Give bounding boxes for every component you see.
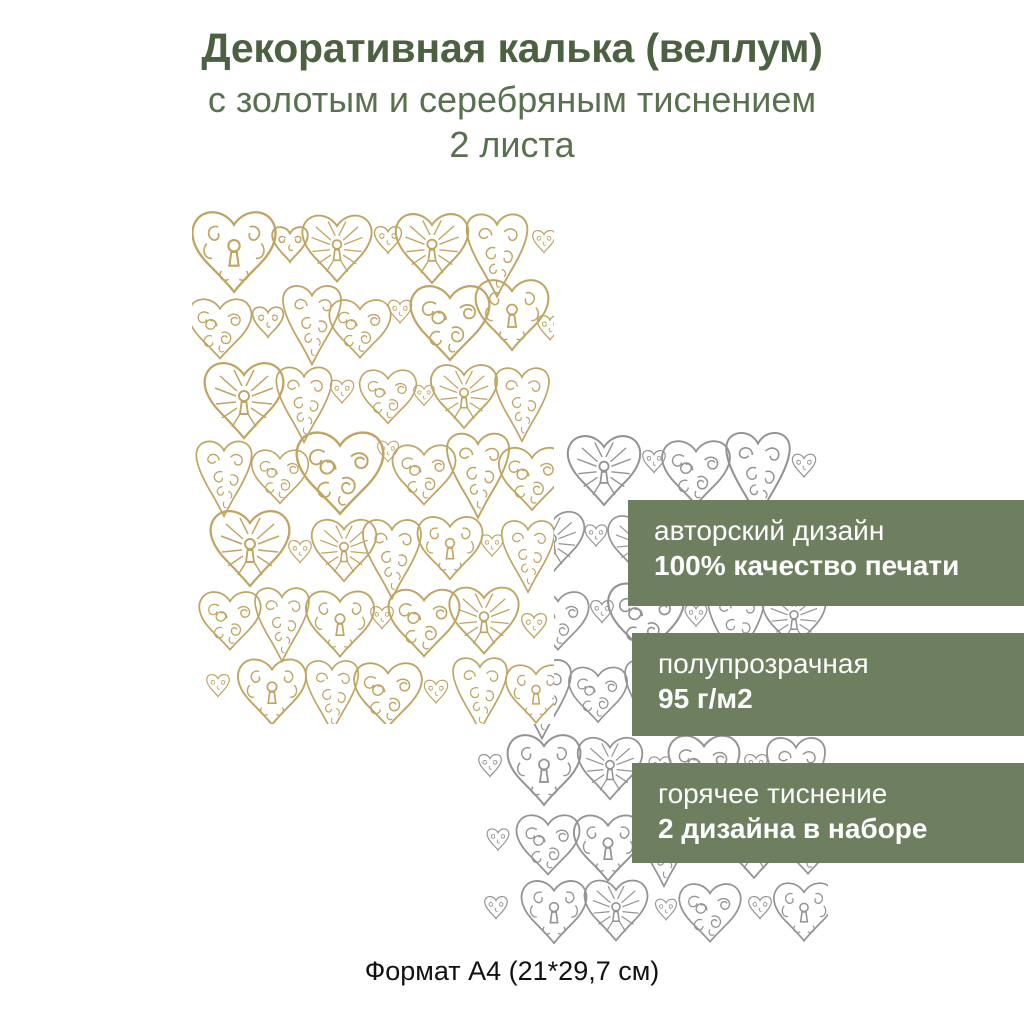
- badge-translucency-line2: 95 г/м2: [658, 681, 1024, 716]
- sheet-count-label: 2 листа: [0, 121, 1024, 165]
- page-title: Декоративная калька (веллум): [0, 0, 1024, 70]
- gold-heart-pattern: [192, 200, 554, 724]
- footer: Формат A4 (21*29,7 см): [0, 955, 1024, 987]
- badge-foiling-line2: 2 дизайна в наборе: [658, 811, 1024, 846]
- badge-author-design-line2: 100% качество печати: [654, 548, 1024, 583]
- badge-foiling: горячее тиснение 2 дизайна в наборе: [632, 763, 1024, 863]
- header: Декоративная калька (веллум) с золотым и…: [0, 0, 1024, 165]
- badge-foiling-line1: горячее тиснение: [658, 776, 1024, 811]
- gold-foil-vellum-sheet: [192, 200, 554, 724]
- format-label: Формат A4 (21*29,7 см): [0, 955, 1024, 987]
- page-subtitle: с золотым и серебряным тиснением: [0, 70, 1024, 120]
- badge-author-design: авторский дизайн 100% качество печати: [628, 500, 1024, 606]
- badge-translucency-line1: полупрозрачная: [658, 646, 1024, 681]
- badge-translucency: полупрозрачная 95 г/м2: [632, 633, 1024, 736]
- badge-author-design-line1: авторский дизайн: [654, 513, 1024, 548]
- product-listing-image: Декоративная калька (веллум) с золотым и…: [0, 0, 1024, 1021]
